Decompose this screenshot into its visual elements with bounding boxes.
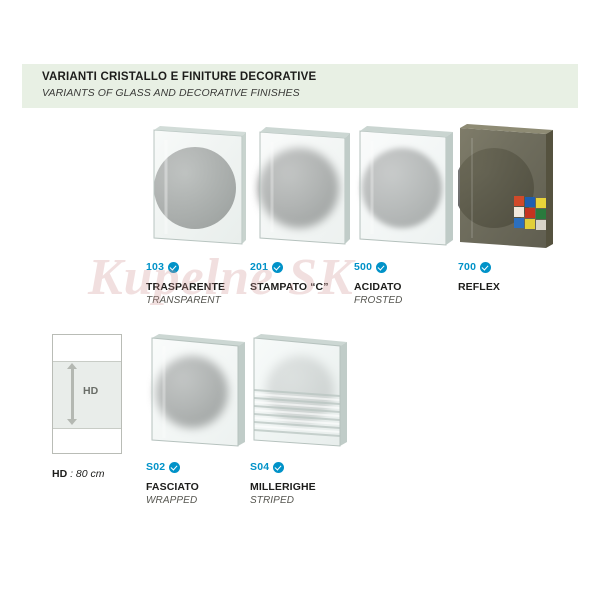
glass-panel-transparent-svg (146, 122, 250, 252)
hd-dimension-arrow-icon (67, 363, 78, 425)
sample-name-en: WRAPPED (146, 495, 250, 506)
sample-name-en: FROSTED (354, 295, 458, 306)
sample-name-en: STRIPED (250, 495, 354, 506)
sample-code-row-S04: S04 (250, 460, 354, 474)
sample-image-transparent (146, 122, 250, 252)
sample-image-printed-c (250, 122, 354, 252)
sample-card-700[interactable]: 700 REFLEX (458, 122, 562, 295)
sample-code: S04 (250, 461, 269, 473)
hd-caption-bold: HD (52, 468, 67, 480)
document-page: VARIANTI CRISTALLO E FINITURE DECORATIVE… (0, 0, 600, 600)
sample-code-row-500: 500 (354, 260, 458, 274)
check-badge-icon (169, 462, 180, 473)
hd-diagram-letter: HD (83, 385, 98, 397)
hd-diagram: HD (52, 334, 122, 454)
sample-name-it: REFLEX (458, 281, 562, 293)
header-text-block: VARIANTI CRISTALLO E FINITURE DECORATIVE… (42, 70, 562, 100)
color-squares-icon (514, 196, 546, 230)
watermark: Kupelne SK (88, 248, 354, 307)
page-subtitle: VARIANTS OF GLASS AND DECORATIVE FINISHE… (42, 86, 562, 100)
sample-image-wrapped (146, 334, 250, 452)
glass-panel-wrapped-svg (146, 334, 250, 452)
sample-card-500[interactable]: 500 ACIDATO FROSTED (354, 122, 458, 306)
sample-name-it: MILLERIGHE (250, 481, 354, 493)
hd-caption-value: : 80 cm (67, 468, 104, 480)
sample-name-it: ACIDATO (354, 281, 458, 293)
sample-code: 500 (354, 261, 372, 273)
glass-panel-reflex-svg (458, 122, 562, 252)
sample-code-row-S02: S02 (146, 460, 250, 474)
check-badge-icon (273, 462, 284, 473)
sample-image-striped (250, 334, 354, 452)
check-badge-icon (376, 262, 387, 273)
page-title: VARIANTI CRISTALLO E FINITURE DECORATIVE (42, 70, 562, 85)
glass-panel-frosted-svg (354, 122, 458, 252)
sample-code-row-700: 700 (458, 260, 562, 274)
sample-card-S04[interactable]: S04 MILLERIGHE STRIPED (250, 334, 354, 506)
sample-code: S02 (146, 461, 165, 473)
sample-card-S02[interactable]: S02 FASCIATO WRAPPED (146, 334, 250, 506)
sample-image-reflex (458, 122, 562, 252)
sample-name-it: FASCIATO (146, 481, 250, 493)
glass-panel-striped-svg (250, 334, 354, 452)
check-badge-icon (480, 262, 491, 273)
sample-image-frosted (354, 122, 458, 252)
hd-caption: HD : 80 cm (52, 468, 105, 480)
sample-code: 700 (458, 261, 476, 273)
glass-panel-printed-svg (250, 122, 354, 252)
